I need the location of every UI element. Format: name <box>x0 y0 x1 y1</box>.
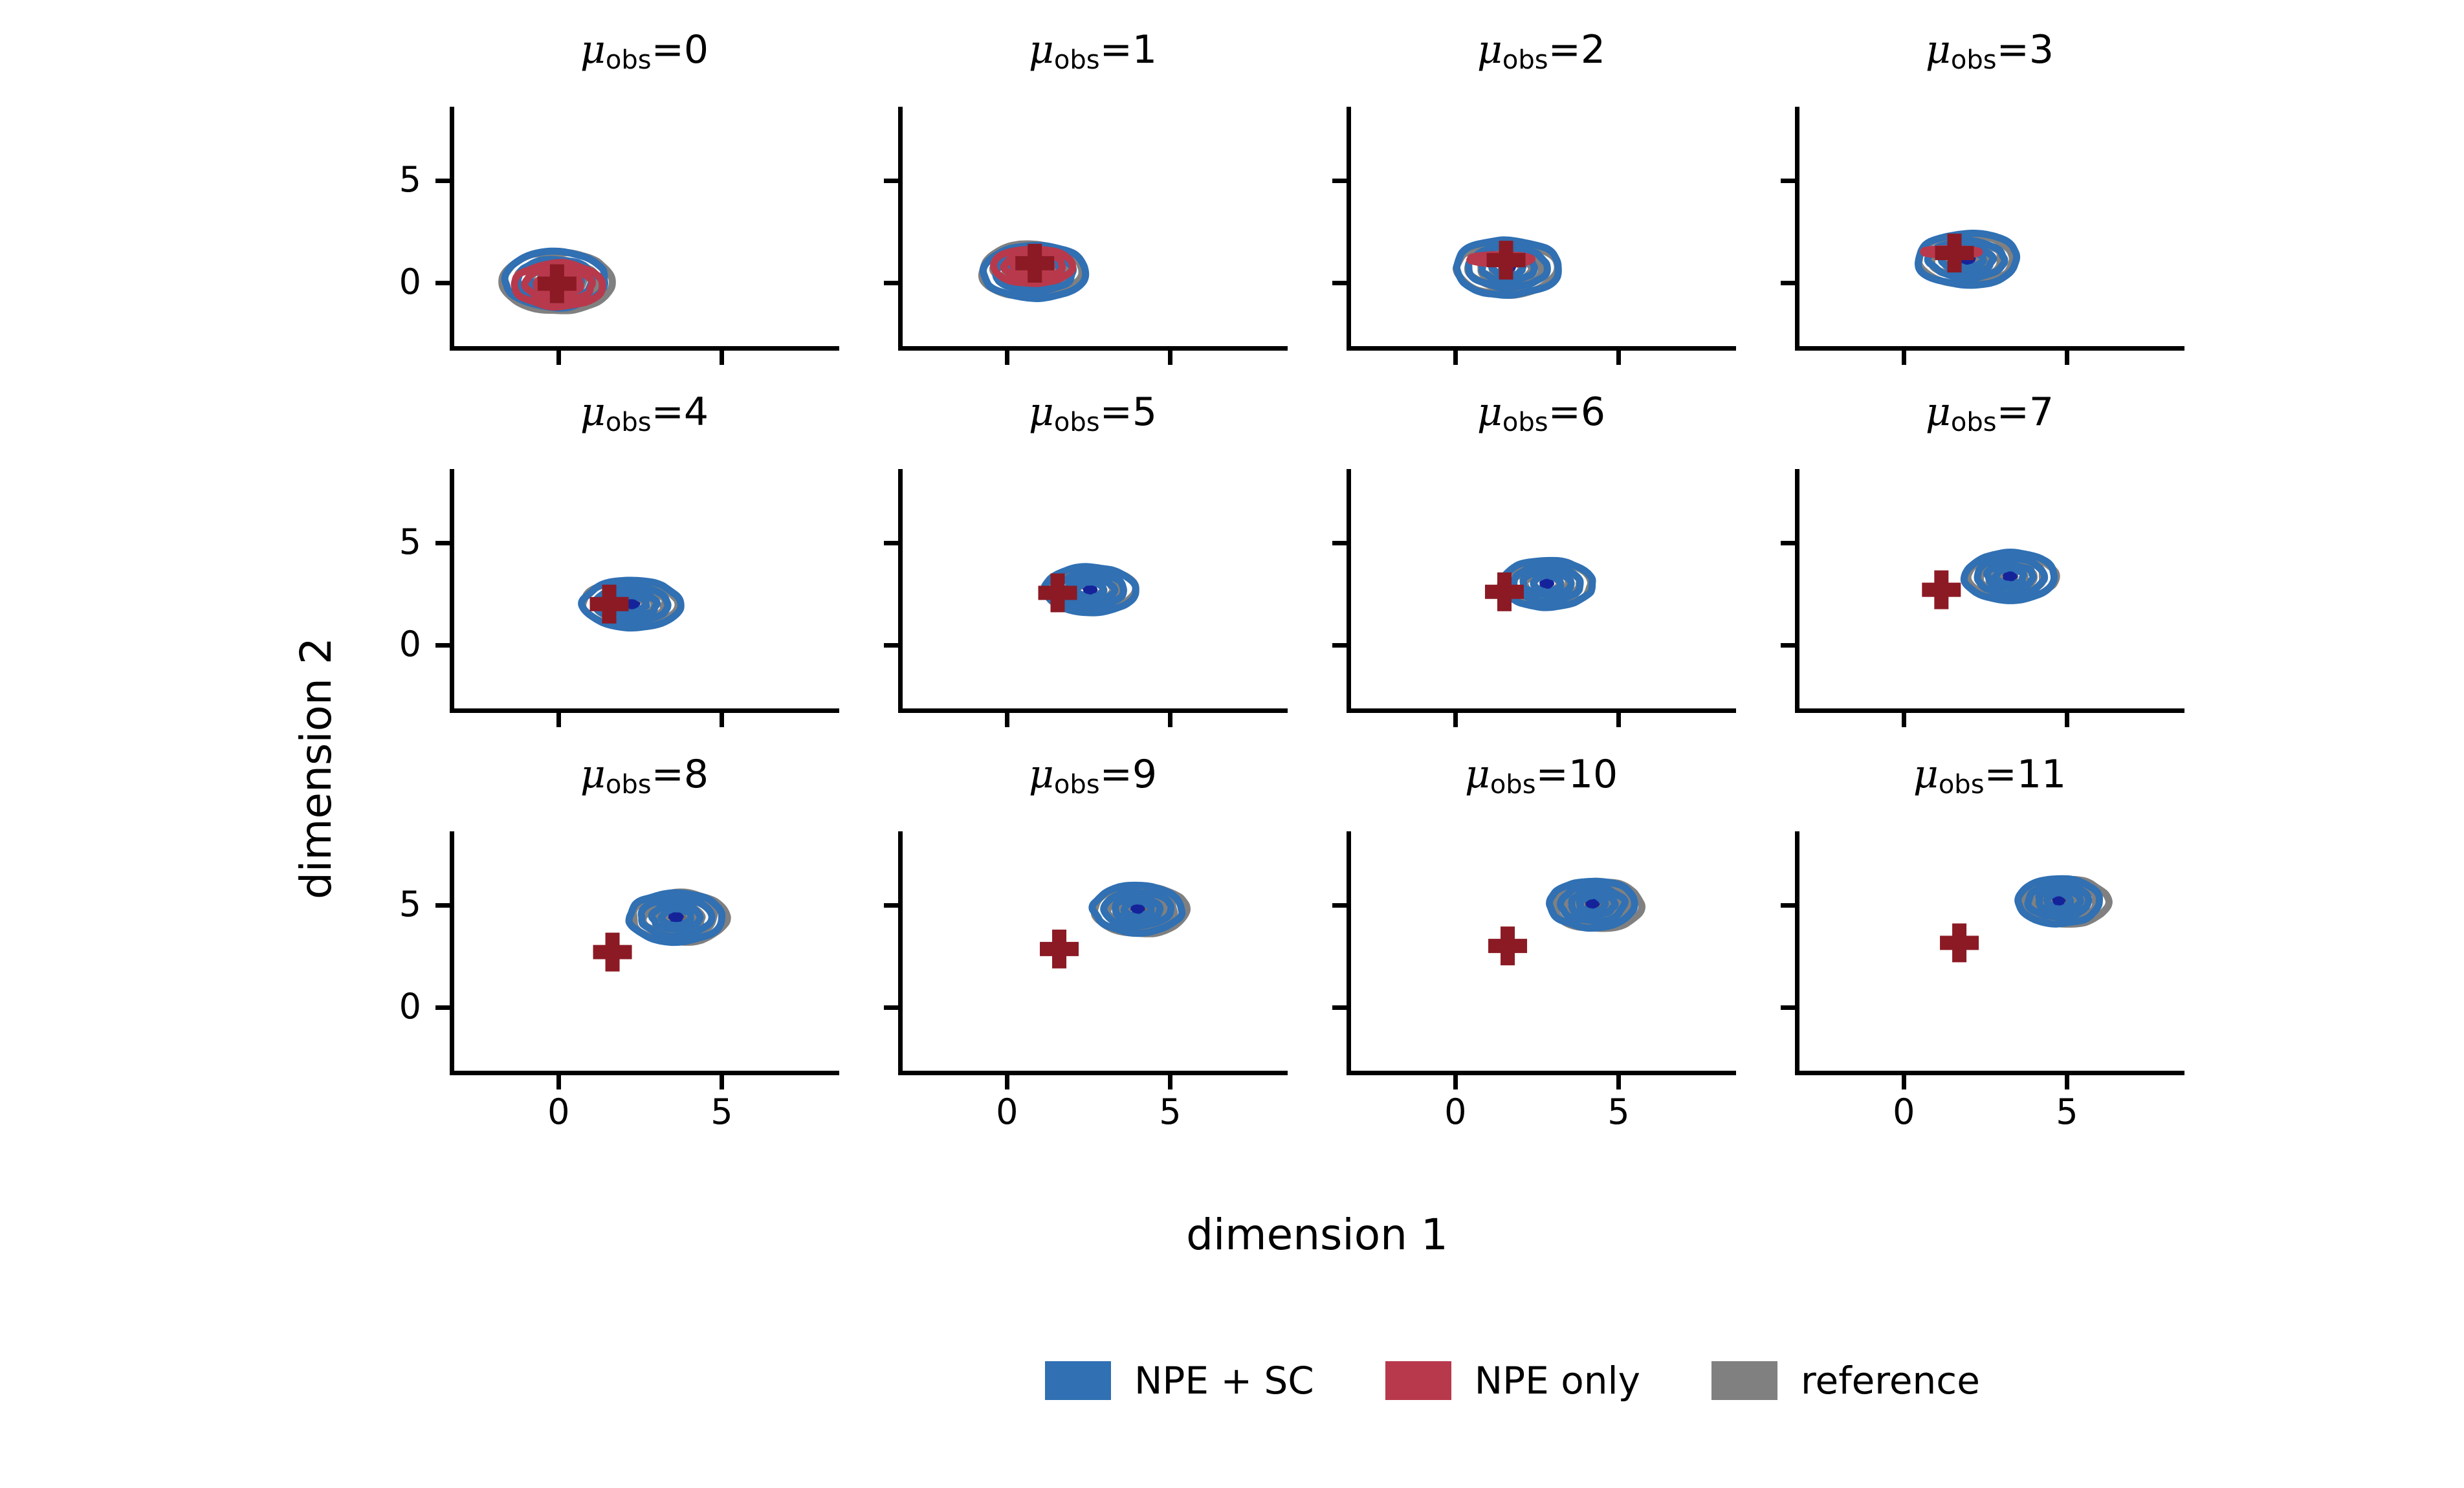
contour-set-npe-sc <box>1550 881 1635 928</box>
x-tick <box>720 1075 724 1089</box>
contour-plot <box>903 831 1288 1071</box>
x-axis-label: dimension 1 <box>450 1210 2184 1260</box>
y-axis-spine <box>898 831 903 1075</box>
legend-label-reference: reference <box>1801 1359 1980 1403</box>
contour-plot <box>1351 831 1736 1071</box>
axes-mu-obs-5 <box>898 469 1288 713</box>
mu-symbol: μ <box>1029 752 1054 797</box>
y-tick <box>1781 179 1795 183</box>
mu-subscript: obs <box>1054 408 1100 437</box>
panel-mu-obs-0: μobs=005 <box>450 107 839 351</box>
x-axis-spine <box>450 708 839 713</box>
x-tick <box>1902 713 1906 727</box>
mu-symbol: μ <box>580 27 606 72</box>
contour-set-npe-sc <box>1092 885 1182 933</box>
x-axis-spine <box>898 708 1288 713</box>
y-tick-label: 0 <box>363 627 421 662</box>
y-axis-spine <box>450 831 454 1075</box>
y-tick <box>1781 281 1795 285</box>
plot-area <box>1799 831 2184 1071</box>
mu-subscript: obs <box>606 408 652 437</box>
panel-mu-obs-5: μobs=5 <box>898 469 1288 713</box>
mu-subscript: obs <box>1939 770 1985 800</box>
panel-mu-obs-9: μobs=905 <box>898 831 1288 1075</box>
panel-mu-obs-8: μobs=80505 <box>450 831 839 1075</box>
x-tick <box>556 351 561 365</box>
true-value-marker <box>1922 571 1961 609</box>
contour-set-npe-sc <box>629 893 722 943</box>
title-equals: = <box>1997 27 2029 72</box>
panel-title-mu-obs-11: μobs=11 <box>1795 755 2184 798</box>
plot-area <box>1351 107 1736 346</box>
x-tick <box>720 351 724 365</box>
y-tick-label: 5 <box>363 162 421 197</box>
axes-mu-obs-0: 05 <box>450 107 839 351</box>
y-tick <box>884 179 898 183</box>
contour-set-npe-sc <box>1501 560 1592 607</box>
y-axis-spine <box>898 107 903 351</box>
mu-obs-value: 6 <box>1581 389 1605 435</box>
y-tick <box>884 1005 898 1010</box>
mu-symbol: μ <box>1029 389 1054 435</box>
contour-plot <box>1351 469 1736 708</box>
title-equals: = <box>652 752 684 797</box>
plot-area <box>454 107 839 346</box>
y-tick <box>1332 903 1347 908</box>
y-tick <box>435 541 450 545</box>
y-axis-spine <box>1347 107 1351 351</box>
mu-symbol: μ <box>1926 27 1951 72</box>
mu-symbol: μ <box>580 389 606 435</box>
true-value-marker <box>1040 930 1079 968</box>
legend-swatch-npe-only <box>1385 1361 1451 1400</box>
x-axis-spine <box>1795 346 2184 351</box>
plot-area <box>1351 831 1736 1071</box>
panel-title-mu-obs-6: μobs=6 <box>1347 393 1736 435</box>
legend-entry-npe-only[interactable]: NPE only <box>1385 1359 1640 1403</box>
x-axis-spine <box>1347 708 1736 713</box>
mu-subscript: obs <box>1490 770 1536 800</box>
panel-mu-obs-2: μobs=2 <box>1347 107 1736 351</box>
x-tick <box>1005 351 1009 365</box>
title-equals: = <box>1985 752 2017 797</box>
y-axis-spine <box>898 469 903 713</box>
y-tick-label: 5 <box>363 525 421 560</box>
mu-subscript: obs <box>1502 408 1548 437</box>
x-tick <box>1168 351 1172 365</box>
contour-plot <box>903 107 1288 346</box>
panel-title-mu-obs-2: μobs=2 <box>1347 30 1736 73</box>
y-axis-spine <box>1795 469 1799 713</box>
legend-label-npe-only: NPE only <box>1475 1359 1640 1403</box>
y-axis-spine <box>450 469 454 713</box>
mu-subscript: obs <box>1951 45 1997 75</box>
mu-obs-value: 0 <box>684 27 709 72</box>
x-tick <box>1453 351 1458 365</box>
y-tick <box>884 541 898 545</box>
figure-canvas: μobs=005μobs=1μobs=2μobs=3μobs=405μobs=5… <box>0 0 2464 1488</box>
panel-title-mu-obs-7: μobs=7 <box>1795 393 2184 435</box>
y-tick-label: 5 <box>363 887 421 922</box>
y-tick <box>1781 541 1795 545</box>
mu-obs-value: 1 <box>1132 27 1157 72</box>
contour-plot <box>1351 107 1736 346</box>
contour-plot <box>454 831 839 1071</box>
mu-obs-value: 11 <box>2017 752 2066 797</box>
x-tick <box>1902 351 1906 365</box>
x-tick <box>556 713 561 727</box>
contour-core <box>668 912 684 922</box>
axes-mu-obs-10: 05 <box>1347 831 1736 1075</box>
x-axis-spine <box>1347 346 1736 351</box>
panel-mu-obs-10: μobs=1005 <box>1347 831 1736 1075</box>
legend: NPE + SCNPE onlyreference <box>1045 1359 1980 1403</box>
legend-swatch-npe-sc <box>1045 1361 1111 1400</box>
x-tick <box>1453 713 1458 727</box>
mu-symbol: μ <box>1465 752 1490 797</box>
legend-entry-npe-sc[interactable]: NPE + SC <box>1045 1359 1314 1403</box>
x-tick <box>2065 351 2069 365</box>
title-equals: = <box>652 389 684 435</box>
x-tick <box>2065 1075 2069 1089</box>
plot-area <box>903 469 1288 708</box>
y-axis-spine <box>1795 107 1799 351</box>
y-tick <box>1332 541 1347 545</box>
mu-obs-value: 8 <box>684 752 709 797</box>
x-tick <box>1168 713 1172 727</box>
title-equals: = <box>652 27 684 72</box>
y-tick <box>1332 643 1347 648</box>
mu-subscript: obs <box>1502 45 1548 75</box>
title-equals: = <box>1536 752 1568 797</box>
plot-area <box>454 469 839 708</box>
axes-mu-obs-9: 05 <box>898 831 1288 1075</box>
plot-area <box>903 831 1288 1071</box>
mu-subscript: obs <box>1054 770 1100 800</box>
panel-title-mu-obs-10: μobs=10 <box>1347 755 1736 798</box>
x-axis-spine <box>1795 708 2184 713</box>
x-axis-spine <box>450 1071 839 1075</box>
x-tick <box>1168 1075 1172 1089</box>
y-tick <box>1332 179 1347 183</box>
x-tick <box>1902 1075 1906 1089</box>
x-tick-label: 5 <box>1131 1095 1209 1130</box>
axes-mu-obs-2 <box>1347 107 1736 351</box>
x-axis-spine <box>450 346 839 351</box>
x-axis-spine <box>1347 1071 1736 1075</box>
plot-area <box>1799 469 2184 708</box>
true-value-marker <box>1488 926 1527 965</box>
legend-label-npe-sc: NPE + SC <box>1134 1359 1314 1403</box>
title-equals: = <box>1100 752 1132 797</box>
x-tick-label: 0 <box>1416 1095 1494 1130</box>
mu-obs-value: 7 <box>2029 389 2054 435</box>
mu-symbol: μ <box>1913 752 1939 797</box>
contour-plot <box>903 469 1288 708</box>
y-tick-label: 0 <box>363 989 421 1024</box>
axes-mu-obs-7 <box>1795 469 2184 713</box>
x-axis-spine <box>1795 1071 2184 1075</box>
panel-mu-obs-11: μobs=1105 <box>1795 831 2184 1075</box>
panel-title-mu-obs-3: μobs=3 <box>1795 30 2184 73</box>
mu-obs-value: 3 <box>2029 27 2054 72</box>
x-axis-spine <box>898 346 1288 351</box>
legend-swatch-reference <box>1711 1361 1777 1400</box>
y-axis-spine <box>1795 831 1799 1075</box>
y-axis-label: dimension 2 <box>291 637 341 899</box>
axes-mu-obs-3 <box>1795 107 2184 351</box>
x-tick-label: 0 <box>968 1095 1046 1130</box>
mu-symbol: μ <box>1029 27 1054 72</box>
mu-symbol: μ <box>1926 389 1951 435</box>
title-equals: = <box>1548 27 1581 72</box>
panel-mu-obs-1: μobs=1 <box>898 107 1288 351</box>
x-tick <box>1005 1075 1009 1089</box>
x-tick <box>1616 713 1621 727</box>
x-tick-label: 5 <box>1579 1095 1657 1130</box>
mu-symbol: μ <box>1477 27 1502 72</box>
x-tick <box>1453 1075 1458 1089</box>
mu-obs-value: 9 <box>1132 752 1157 797</box>
x-tick <box>1616 351 1621 365</box>
y-tick <box>884 643 898 648</box>
plot-area <box>1351 469 1736 708</box>
panel-mu-obs-4: μobs=405 <box>450 469 839 713</box>
x-tick <box>720 713 724 727</box>
panel-title-mu-obs-1: μobs=1 <box>898 30 1288 73</box>
mu-obs-value: 2 <box>1581 27 1605 72</box>
x-tick-label: 5 <box>2028 1095 2106 1130</box>
plot-area <box>903 107 1288 346</box>
y-tick <box>1781 643 1795 648</box>
plot-area <box>454 831 839 1071</box>
panel-mu-obs-7: μobs=7 <box>1795 469 2184 713</box>
contour-plot <box>454 107 839 346</box>
x-tick-label: 0 <box>520 1095 597 1130</box>
y-tick <box>1332 1005 1347 1010</box>
panel-title-mu-obs-4: μobs=4 <box>450 393 839 435</box>
title-equals: = <box>1100 27 1132 72</box>
legend-entry-reference[interactable]: reference <box>1711 1359 1980 1403</box>
x-tick <box>1005 713 1009 727</box>
x-tick-label: 0 <box>1865 1095 1942 1130</box>
x-tick <box>556 1075 561 1089</box>
mu-symbol: μ <box>580 752 606 797</box>
contour-plot <box>1799 107 2184 346</box>
x-tick-label: 5 <box>683 1095 760 1130</box>
y-tick <box>1781 1005 1795 1010</box>
x-axis-spine <box>898 1071 1288 1075</box>
true-value-marker <box>593 933 632 972</box>
y-tick <box>435 179 450 183</box>
mu-subscript: obs <box>606 770 652 800</box>
panel-mu-obs-6: μobs=6 <box>1347 469 1736 713</box>
title-equals: = <box>1997 389 2029 435</box>
title-equals: = <box>1548 389 1581 435</box>
mu-symbol: μ <box>1477 389 1502 435</box>
contour-set-npe-sc <box>2018 879 2100 924</box>
mu-subscript: obs <box>1054 45 1100 75</box>
contour-plot <box>1799 469 2184 708</box>
y-tick-label: 0 <box>363 265 421 300</box>
mu-obs-value: 10 <box>1568 752 1618 797</box>
contour-plot <box>1799 831 2184 1071</box>
axes-mu-obs-11: 05 <box>1795 831 2184 1075</box>
y-tick <box>435 903 450 908</box>
y-tick <box>435 1005 450 1010</box>
y-tick <box>884 281 898 285</box>
y-tick <box>435 281 450 285</box>
axes-mu-obs-1 <box>898 107 1288 351</box>
plot-area <box>1799 107 2184 346</box>
x-tick <box>2065 713 2069 727</box>
panel-title-mu-obs-5: μobs=5 <box>898 393 1288 435</box>
y-tick <box>435 643 450 648</box>
panel-mu-obs-3: μobs=3 <box>1795 107 2184 351</box>
y-tick <box>1332 281 1347 285</box>
panel-title-mu-obs-8: μobs=8 <box>450 755 839 798</box>
y-tick <box>1781 903 1795 908</box>
panel-title-mu-obs-9: μobs=9 <box>898 755 1288 798</box>
y-tick <box>884 903 898 908</box>
y-axis-spine <box>1347 831 1351 1075</box>
true-value-marker <box>1940 923 1979 962</box>
panel-title-mu-obs-0: μobs=0 <box>450 30 839 73</box>
title-equals: = <box>1100 389 1132 435</box>
y-axis-spine <box>1347 469 1351 713</box>
mu-obs-value: 5 <box>1132 389 1157 435</box>
axes-mu-obs-4: 05 <box>450 469 839 713</box>
contour-plot <box>454 469 839 708</box>
axes-mu-obs-8: 0505 <box>450 831 839 1075</box>
mu-obs-value: 4 <box>684 389 709 435</box>
axes-mu-obs-6 <box>1347 469 1736 713</box>
mu-subscript: obs <box>606 45 652 75</box>
y-axis-spine <box>450 107 454 351</box>
mu-subscript: obs <box>1951 408 1997 437</box>
x-tick <box>1616 1075 1621 1089</box>
